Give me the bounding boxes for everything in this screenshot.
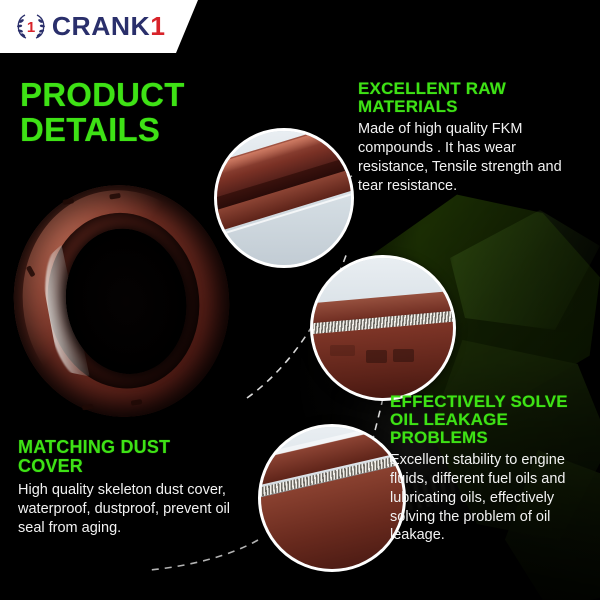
laurel-wreath-icon: 1 (14, 11, 48, 41)
callout-spring-detail (310, 255, 456, 401)
seal-embossing (330, 345, 355, 356)
oil-seal-product-image (0, 170, 246, 433)
feature-body: High quality skeleton dust cover, waterp… (18, 481, 233, 538)
feature-block-dust-cover: MATCHING DUST COVER High quality skeleto… (18, 438, 233, 538)
svg-text:1: 1 (27, 19, 35, 36)
feature-heading: MATCHING DUST COVER (18, 438, 233, 476)
seal-embossing (393, 349, 414, 362)
brand-name: CRANK1 (52, 13, 166, 39)
feature-heading: EFFECTIVELY SOLVE OIL LEAKAGE PROBLEMS (390, 393, 590, 447)
brand-name-accent: 1 (150, 11, 165, 41)
feature-block-raw-materials: EXCELLENT RAW MATERIALS Made of high qua… (358, 80, 586, 195)
callout-oil-leakage (258, 424, 406, 572)
feature-body: Made of high quality FKM compounds . It … (358, 120, 586, 195)
seal-embossing (366, 350, 387, 363)
brand-logo[interactable]: 1 CRANK1 (14, 11, 164, 41)
feature-block-oil-leakage: EFFECTIVELY SOLVE OIL LEAKAGE PROBLEMS E… (390, 393, 590, 545)
page-title-line1: PRODUCT (20, 78, 280, 113)
callout-raw-materials (214, 128, 354, 268)
brand-name-text: CRANK (52, 11, 150, 41)
feature-body: Excellent stability to engine fluids, di… (390, 451, 590, 545)
product-details-infographic: 1 CRANK1 PRODUCT DETAILS (0, 0, 600, 600)
feature-heading: EXCELLENT RAW MATERIALS (358, 80, 586, 116)
